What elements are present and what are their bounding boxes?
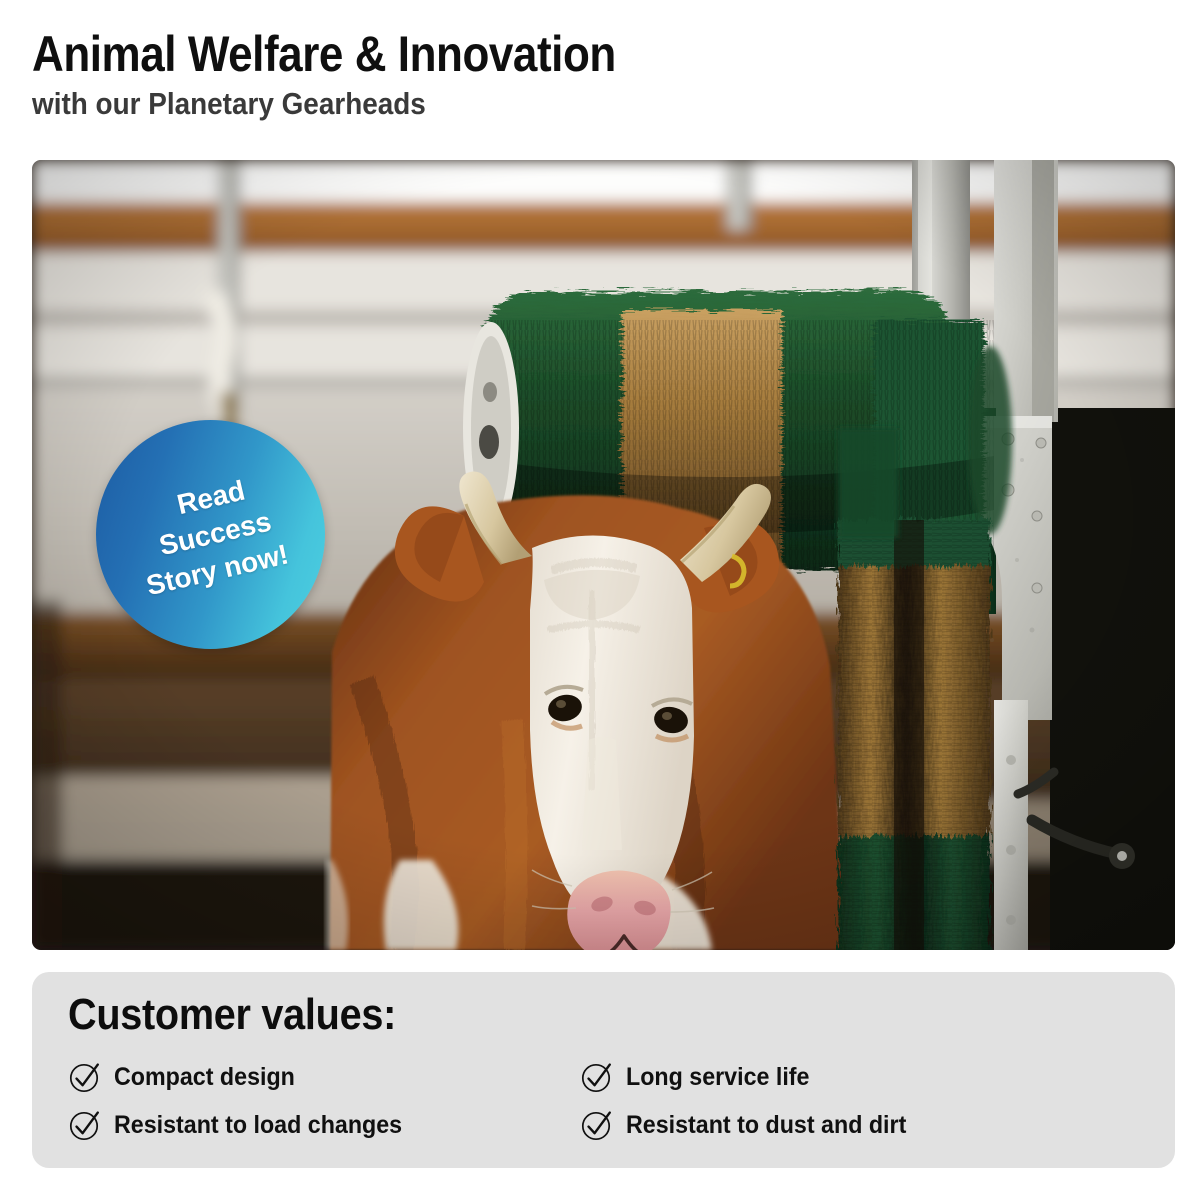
- value-label: Resistant to dust and dirt: [626, 1111, 906, 1140]
- check-circle-icon: [580, 1060, 614, 1094]
- value-item: Resistant to load changes: [68, 1101, 568, 1149]
- value-label: Compact design: [114, 1063, 295, 1092]
- page-header: Animal Welfare & Innovation with our Pla…: [32, 28, 1172, 121]
- value-label: Long service life: [626, 1063, 809, 1092]
- check-circle-icon: [68, 1108, 102, 1142]
- customer-values-title: Customer values:: [68, 990, 1032, 1039]
- read-success-story-badge[interactable]: Read Success Story now!: [96, 420, 325, 649]
- value-label: Resistant to load changes: [114, 1111, 402, 1140]
- page-subtitle: with our Planetary Gearheads: [32, 87, 1058, 121]
- value-item: Compact design: [68, 1053, 568, 1101]
- page-title: Animal Welfare & Innovation: [32, 28, 1035, 81]
- badge-text: Read Success Story now!: [129, 466, 292, 603]
- marketing-page: Animal Welfare & Innovation with our Pla…: [0, 0, 1200, 1200]
- check-circle-icon: [580, 1108, 614, 1142]
- customer-values-list: Compact design Long service life Resista…: [68, 1053, 1139, 1149]
- check-circle-icon: [68, 1060, 102, 1094]
- value-item: Long service life: [580, 1053, 1139, 1101]
- value-item: Resistant to dust and dirt: [580, 1101, 1139, 1149]
- customer-values-card: Customer values: Compact design Long ser…: [32, 972, 1175, 1168]
